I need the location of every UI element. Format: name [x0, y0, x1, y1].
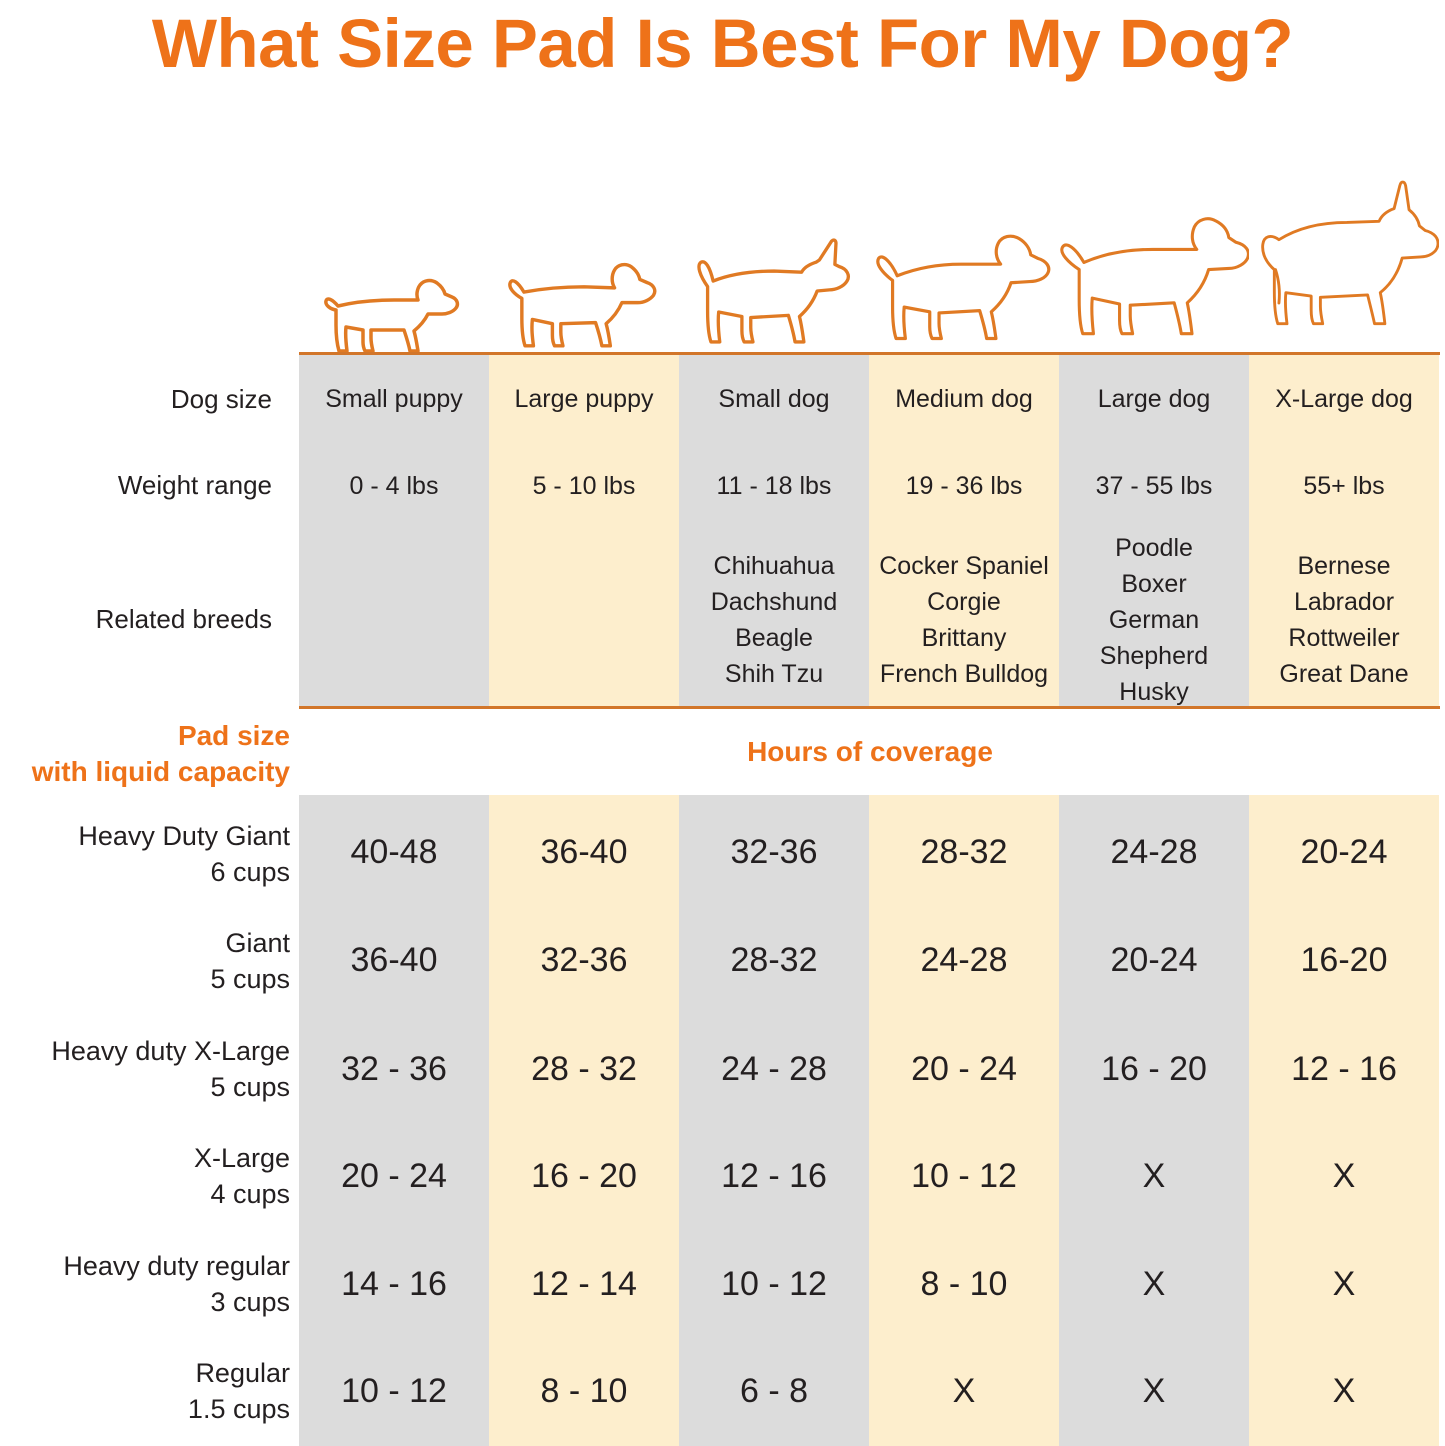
cell-hdgiant-xlarge-dog: 20-24 [1249, 833, 1439, 872]
cell-hdgiant-small-dog: 32-36 [679, 833, 869, 872]
cell-xl-large-puppy: 16 - 20 [489, 1157, 679, 1196]
hours-of-coverage-table [0, 795, 1445, 1446]
cell-hdxl-large-puppy: 28 - 32 [489, 1050, 679, 1089]
dog-silhouette-large-dog-cell [1059, 183, 1249, 355]
dog-silhouette-large-puppy [505, 245, 663, 355]
cell-breeds-small-dog: ChihuahuaDachshundBeagleShih Tzu [679, 548, 869, 692]
cell-dog-size-small-dog: Small dog [679, 383, 869, 416]
table-top-rule [299, 352, 1440, 355]
cell-hdreg-medium-dog: 8 - 10 [869, 1265, 1059, 1304]
dog-silhouette-small-dog-cell [679, 227, 869, 355]
row-label-dog-size: Dog size [171, 383, 272, 415]
cell-hdreg-small-dog: 10 - 12 [679, 1265, 869, 1304]
bcolumn-shade-small-puppy [299, 795, 489, 1446]
dog-silhouette-row [299, 150, 1440, 355]
row-label-regular: Regular1.5 cups [188, 1355, 290, 1427]
cell-hdreg-large-dog: X [1059, 1265, 1249, 1304]
row-label-xlarge: X-Large4 cups [194, 1140, 290, 1212]
cell-xl-xlarge-dog: X [1249, 1157, 1439, 1196]
cell-hdgiant-large-dog: 24-28 [1059, 833, 1249, 872]
cell-dog-size-large-dog: Large dog [1059, 383, 1249, 416]
dog-silhouette-medium-dog-cell [869, 207, 1059, 355]
cell-dog-size-xlarge-dog: X-Large dog [1249, 383, 1439, 416]
cell-hdgiant-medium-dog: 28-32 [869, 833, 1059, 872]
cell-hdreg-large-puppy: 12 - 14 [489, 1265, 679, 1304]
dog-silhouette-large-puppy-cell [489, 245, 679, 355]
cell-giant-large-puppy: 32-36 [489, 941, 679, 980]
cell-reg-small-puppy: 10 - 12 [299, 1372, 489, 1411]
cell-weight-small-dog: 11 - 18 lbs [679, 470, 869, 503]
cell-hdxl-medium-dog: 20 - 24 [869, 1050, 1059, 1089]
cell-giant-small-dog: 28-32 [679, 941, 869, 980]
bcolumn-shade-large-puppy [489, 795, 679, 1446]
cell-hdxl-small-dog: 24 - 28 [679, 1050, 869, 1089]
cell-xl-small-puppy: 20 - 24 [299, 1157, 489, 1196]
cell-breeds-medium-dog: Cocker SpanielCorgieBrittanyFrench Bulld… [869, 548, 1059, 692]
cell-xl-small-dog: 12 - 16 [679, 1157, 869, 1196]
cell-breeds-xlarge-dog: BerneseLabradorRottweilerGreat Dane [1249, 548, 1439, 692]
pad-size-section-header: Pad sizewith liquid capacity [32, 718, 290, 790]
dog-silhouette-xlarge-dog [1249, 152, 1439, 355]
row-label-heavy-duty-giant: Heavy Duty Giant6 cups [78, 818, 290, 890]
dog-silhouette-small-puppy [319, 260, 469, 355]
cell-giant-small-puppy: 36-40 [299, 941, 489, 980]
row-label-giant: Giant5 cups [210, 925, 290, 997]
cell-giant-xlarge-dog: 16-20 [1249, 941, 1439, 980]
cell-hdxl-xlarge-dog: 12 - 16 [1249, 1050, 1439, 1089]
bcolumn-shade-small-dog [679, 795, 869, 1446]
infographic-page: What Size Pad Is Best For My Dog? [0, 0, 1445, 1446]
bcolumn-shade-large-dog [1059, 795, 1249, 1446]
cell-weight-medium-dog: 19 - 36 lbs [869, 470, 1059, 503]
cell-hdreg-small-puppy: 14 - 16 [299, 1265, 489, 1304]
cell-reg-xlarge-dog: X [1249, 1372, 1439, 1411]
cell-hdgiant-small-puppy: 40-48 [299, 833, 489, 872]
dog-silhouette-small-puppy-cell [299, 260, 489, 355]
row-label-heavy-duty-xlarge: Heavy duty X-Large5 cups [51, 1033, 290, 1105]
cell-giant-large-dog: 20-24 [1059, 941, 1249, 980]
cell-reg-small-dog: 6 - 8 [679, 1372, 869, 1411]
cell-breeds-large-dog: PoodleBoxerGermanShepherdHusky [1059, 530, 1249, 710]
cell-weight-large-puppy: 5 - 10 lbs [489, 470, 679, 503]
cell-reg-medium-dog: X [869, 1372, 1059, 1411]
cell-hdgiant-large-puppy: 36-40 [489, 833, 679, 872]
cell-weight-xlarge-dog: 55+ lbs [1249, 470, 1439, 503]
cell-weight-large-dog: 37 - 55 lbs [1059, 470, 1249, 503]
bcolumn-shade-medium-dog [869, 795, 1059, 1446]
dog-silhouette-xlarge-dog-cell [1249, 152, 1439, 355]
dog-silhouette-small-dog [691, 227, 857, 355]
cell-xl-medium-dog: 10 - 12 [869, 1157, 1059, 1196]
cell-hdreg-xlarge-dog: X [1249, 1265, 1439, 1304]
cell-dog-size-small-puppy: Small puppy [299, 383, 489, 416]
cell-dog-size-large-puppy: Large puppy [489, 383, 679, 416]
cell-hdxl-small-puppy: 32 - 36 [299, 1050, 489, 1089]
cell-dog-size-medium-dog: Medium dog [869, 383, 1059, 416]
hours-of-coverage-header: Hours of coverage [600, 736, 1140, 768]
dog-silhouette-large-dog [1059, 183, 1249, 355]
bcolumn-shade-xlarge-dog [1249, 795, 1439, 1446]
dog-silhouette-medium-dog [874, 207, 1054, 355]
cell-hdxl-large-dog: 16 - 20 [1059, 1050, 1249, 1089]
cell-reg-large-puppy: 8 - 10 [489, 1372, 679, 1411]
cell-reg-large-dog: X [1059, 1372, 1249, 1411]
table-middle-rule [299, 706, 1440, 709]
cell-weight-small-puppy: 0 - 4 lbs [299, 470, 489, 503]
page-title: What Size Pad Is Best For My Dog? [0, 4, 1445, 84]
row-label-weight-range: Weight range [118, 469, 272, 501]
cell-giant-medium-dog: 24-28 [869, 941, 1059, 980]
row-label-related-breeds: Related breeds [96, 603, 272, 635]
row-label-heavy-duty-regular: Heavy duty regular3 cups [63, 1248, 290, 1320]
cell-xl-large-dog: X [1059, 1157, 1249, 1196]
